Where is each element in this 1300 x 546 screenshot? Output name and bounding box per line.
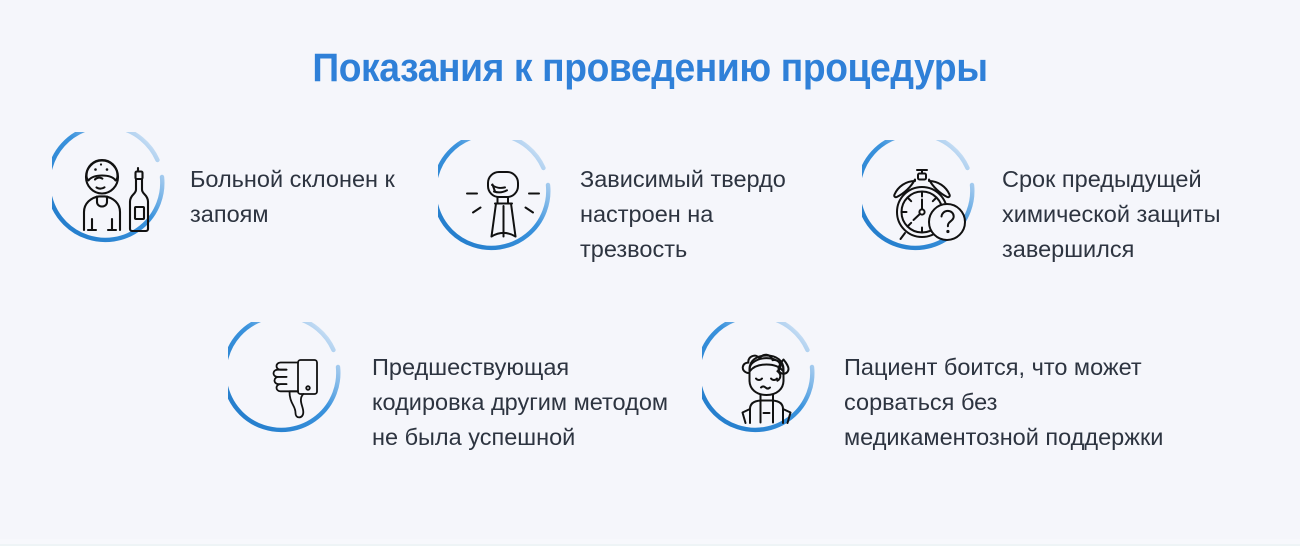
indication-item-fear-of-relapse: Пациент боится, что может сорваться без … (702, 322, 1163, 455)
page-title: Показания к проведению процедуры (46, 44, 1255, 92)
indication-label: Больной склонен к запоям (190, 132, 395, 232)
bottom-divider (0, 539, 1300, 546)
man-with-bottle-icon (52, 132, 182, 262)
indication-item-previous-protection-expired: Срок предыдущей химической защиты заверш… (862, 140, 1220, 270)
badge-drinking-bouts (52, 132, 182, 262)
indication-label: Предшествующая кодировка другим методом … (372, 322, 668, 455)
worried-person-icon (702, 322, 832, 452)
badge-previous-protection-expired (862, 140, 992, 270)
determined-person-icon (438, 140, 568, 270)
indication-label: Пациент боится, что может сорваться без … (844, 322, 1163, 455)
infographic-root: Показания к проведению процедуры (0, 0, 1300, 546)
badge-firm-sobriety-resolve (438, 140, 568, 270)
indication-item-firm-sobriety-resolve: Зависимый твердо настроен на трезвость (438, 140, 786, 270)
indication-label: Зависимый твердо настроен на трезвость (580, 140, 786, 267)
indication-item-previous-coding-failed: Предшествующая кодировка другим методом … (228, 322, 668, 455)
alarm-clock-question-icon (862, 140, 992, 270)
indication-item-drinking-bouts: Больной склонен к запоям (52, 132, 395, 262)
badge-previous-coding-failed (228, 322, 358, 452)
badge-fear-of-relapse (702, 322, 832, 452)
thumbs-down-icon (228, 322, 358, 452)
indication-label: Срок предыдущей химической защиты заверш… (1002, 140, 1220, 267)
